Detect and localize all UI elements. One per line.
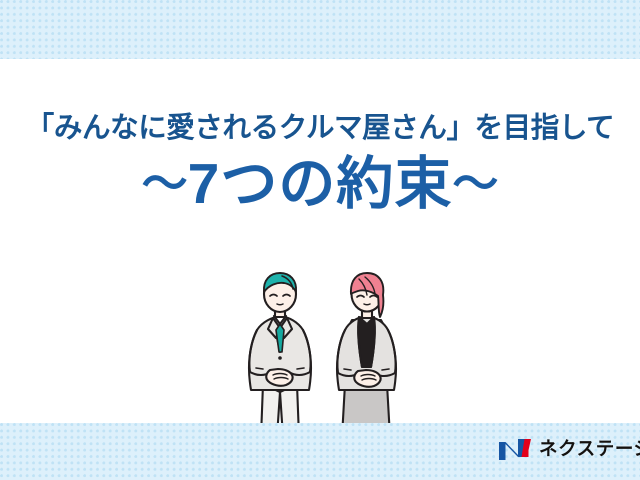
two-bowing-staff-illustration [232, 272, 422, 437]
nextage-n-mark-icon [498, 438, 532, 461]
tilde-left: 〜 [142, 157, 188, 209]
headline-line-1: 「みんなに愛されるクルマ屋さん」を目指して [0, 112, 640, 146]
headline-line-2-core: 7つの約束 [188, 152, 453, 216]
female-staff-bowing [337, 273, 396, 437]
nextage-wordmark: ネクステージ [539, 440, 640, 459]
headline-line-2: 〜7つの約束〜 [0, 154, 640, 216]
headline-block: 「みんなに愛されるクルマ屋さん」を目指して 〜7つの約束〜 [0, 112, 640, 215]
tilde-right: 〜 [452, 157, 498, 209]
nextage-logo: ネクステージ [498, 436, 640, 462]
staff-illustration-svg [232, 272, 422, 437]
promise-banner: 「みんなに愛されるクルマ屋さん」を目指して 〜7つの約束〜 [0, 0, 640, 480]
top-dotted-band [0, 0, 640, 59]
male-staff-bowing [249, 273, 311, 437]
